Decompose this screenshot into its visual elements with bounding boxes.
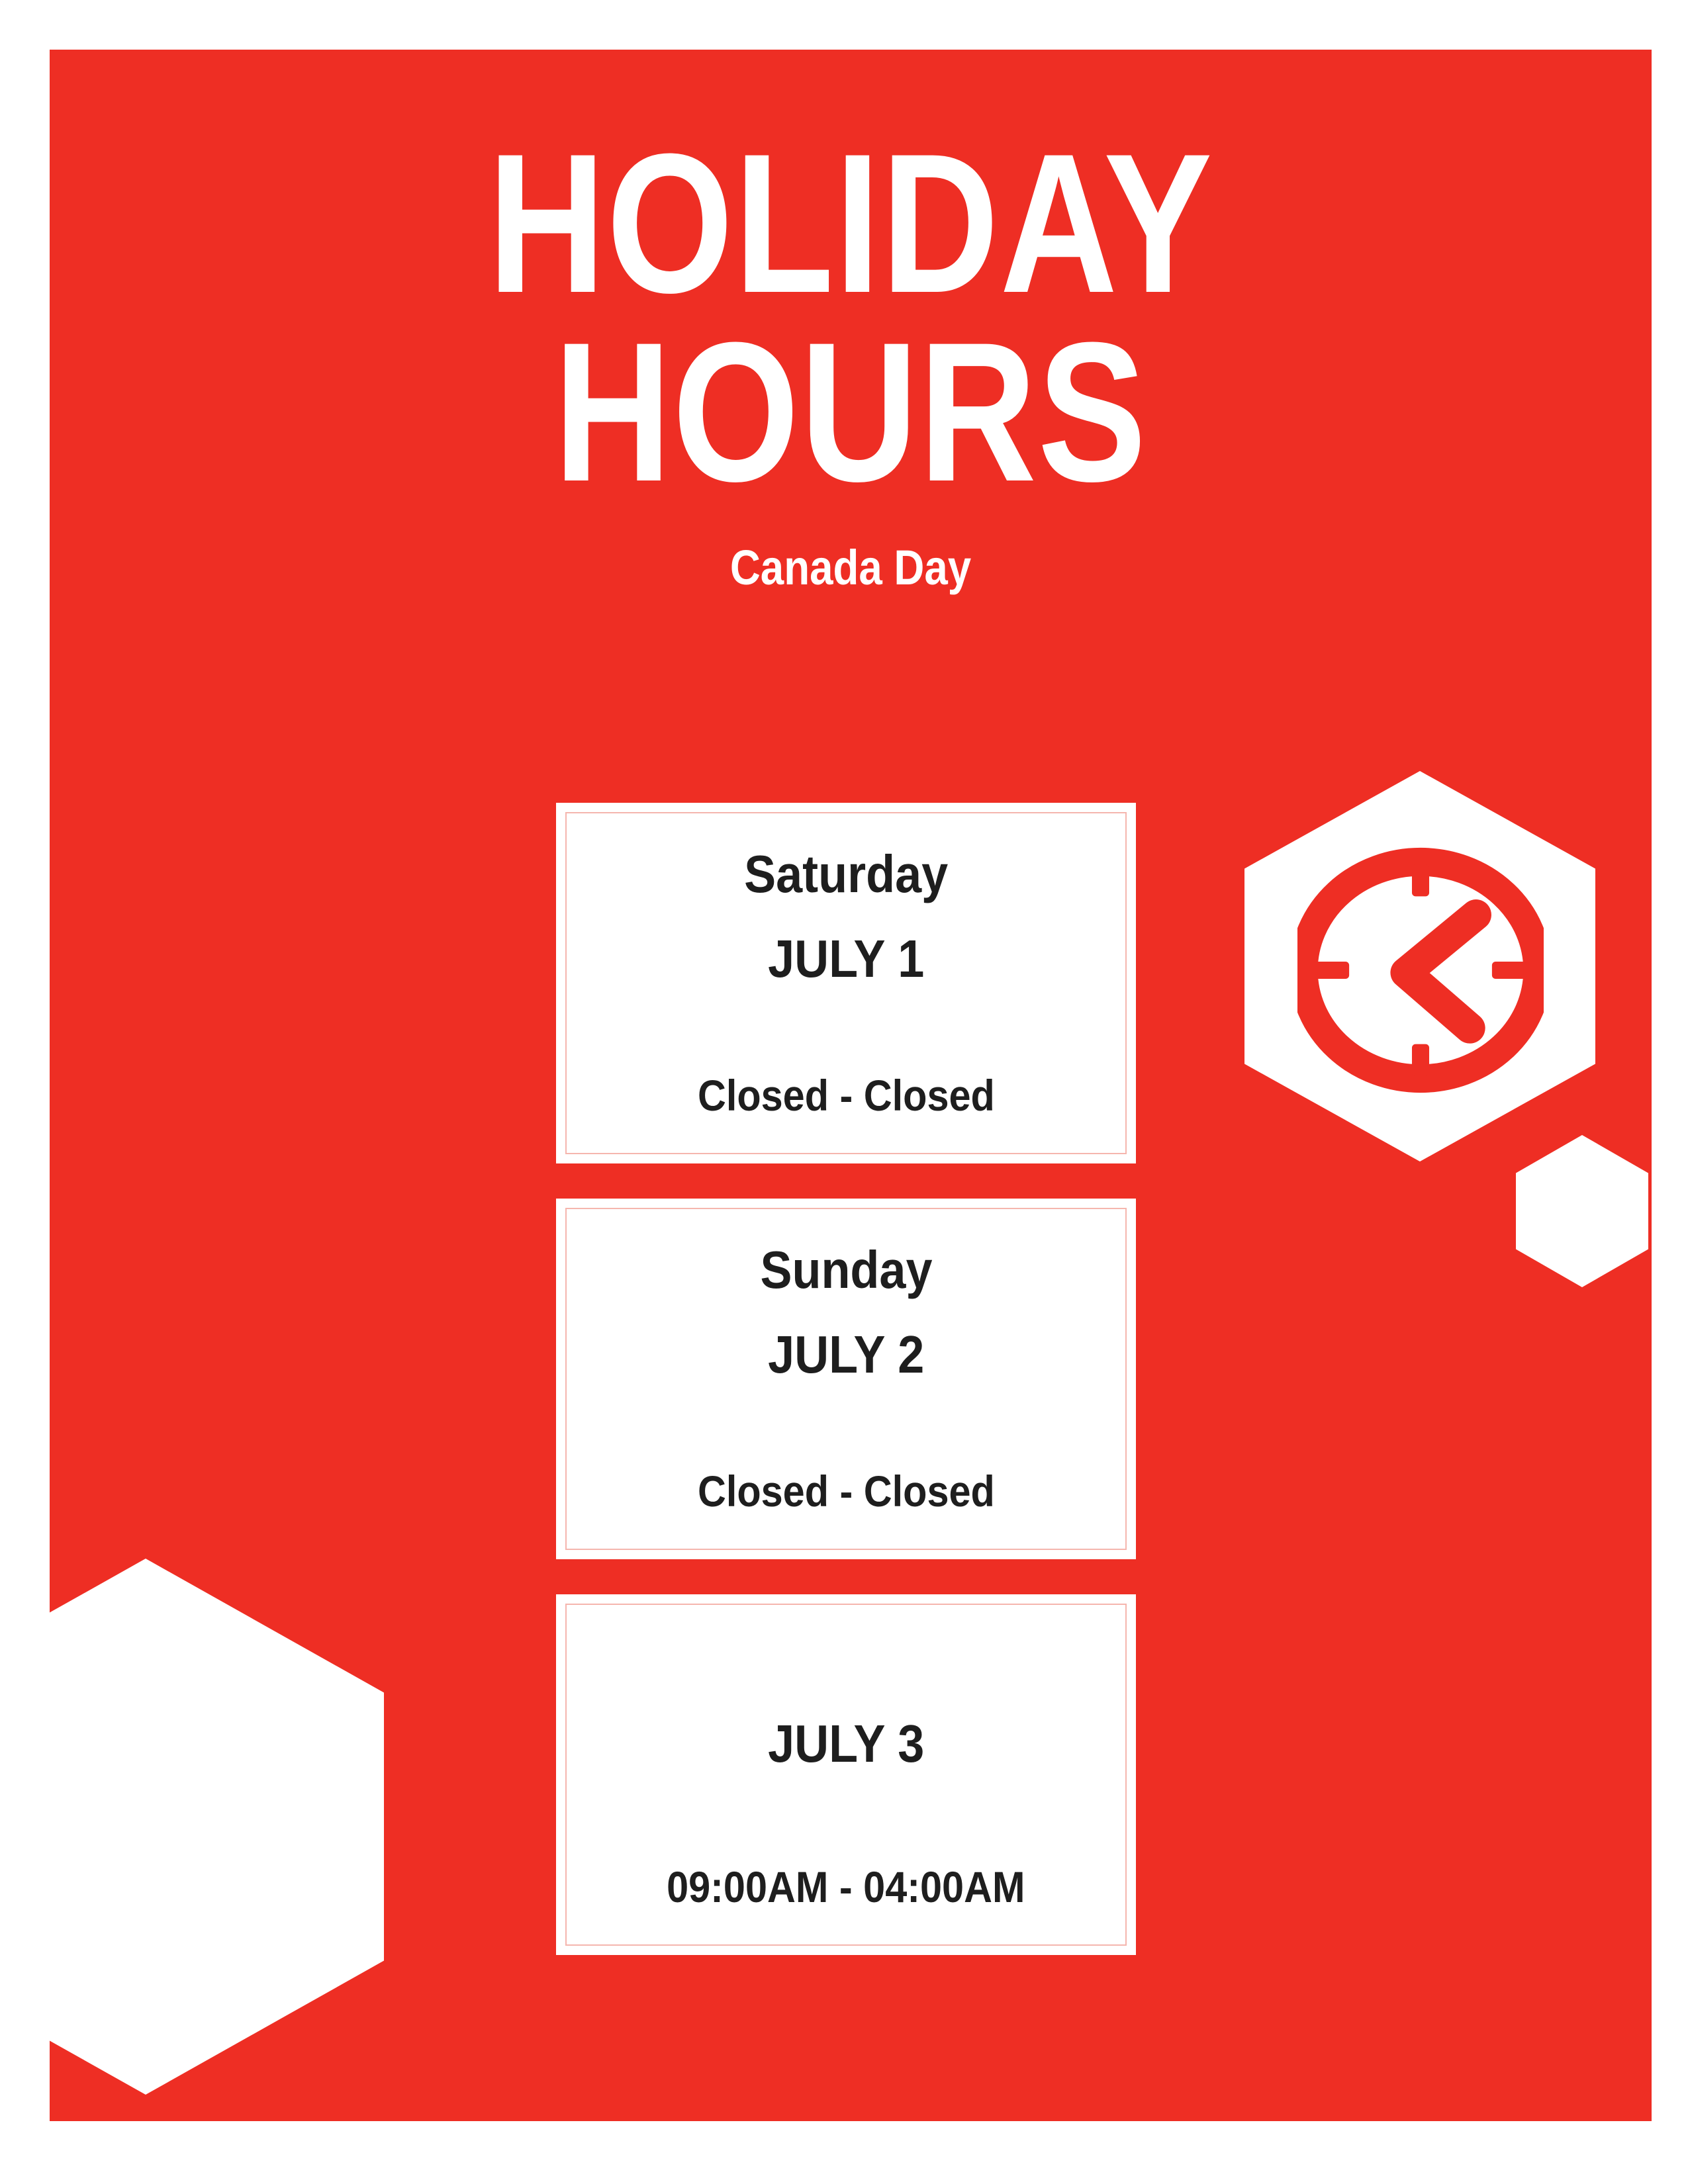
- page-title: HOLIDAY HOURS Canada Day: [136, 129, 1566, 594]
- card-hours: 09:00AM - 04:00AM: [667, 1865, 1025, 1909]
- card-weekday: Sunday: [760, 1244, 932, 1297]
- schedule-card: JULY 3 09:00AM - 04:00AM: [556, 1594, 1136, 1955]
- page-subtitle: Canada Day: [236, 541, 1466, 594]
- card-hours: Closed - Closed: [698, 1073, 995, 1117]
- clock-icon: [1297, 847, 1544, 1093]
- card-date: JULY 2: [768, 1328, 924, 1381]
- card-weekday: Saturday: [744, 848, 948, 901]
- card-date: JULY 3: [768, 1717, 924, 1770]
- schedule-card: Saturday JULY 1 Closed - Closed: [556, 803, 1136, 1163]
- poster-panel: HOLIDAY HOURS Canada Day Saturday JULY 1…: [50, 50, 1652, 2121]
- card-date: JULY 1: [768, 933, 924, 985]
- card-hours: Closed - Closed: [698, 1469, 995, 1513]
- title-line-1: HOLIDAY: [264, 129, 1436, 318]
- schedule-card: Sunday JULY 2 Closed - Closed: [556, 1199, 1136, 1559]
- schedule-list: Saturday JULY 1 Closed - Closed Sunday J…: [556, 803, 1136, 1990]
- hexagon-icon: [50, 1559, 384, 2095]
- hexagon-icon: [1516, 1135, 1648, 1287]
- title-line-2: HOURS: [264, 318, 1436, 506]
